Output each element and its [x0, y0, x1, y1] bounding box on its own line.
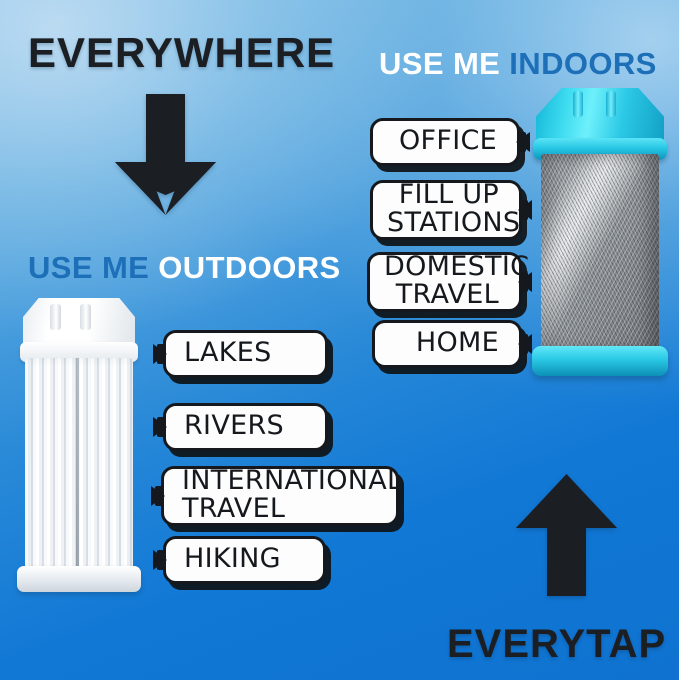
carbon-filter-cartridge [528, 88, 673, 378]
tag-notch-left-icon [153, 550, 167, 570]
filter-carbon-body [541, 154, 659, 354]
heading-indoors-emphasis: INDOORS [509, 46, 656, 81]
tag-label: OFFICE [387, 127, 497, 155]
filter-pleated-body [25, 358, 133, 574]
tag-label: RIVERS [184, 412, 311, 440]
white-filter-cartridge [14, 298, 144, 596]
heading-everywhere: EVERYWHERE [28, 32, 335, 74]
filter-cap-ridge [573, 91, 583, 117]
tag-home[interactable]: HOME [372, 320, 522, 368]
heading-use-me-indoors: USE ME INDOORS [379, 48, 657, 79]
tag-label: DOMESTIC TRAVEL [384, 253, 499, 309]
tag-hiking[interactable]: HIKING [163, 536, 326, 584]
tag-lakes[interactable]: LAKES [163, 330, 328, 378]
tag-notch-left-icon [153, 417, 167, 437]
filter-cap-nub [50, 304, 61, 330]
filter-base-ring [532, 346, 668, 376]
tag-label: LAKES [184, 339, 311, 367]
tag-international-travel[interactable]: INTERNATIONAL TRAVEL [161, 466, 399, 526]
filter-cap-ridge [606, 91, 616, 117]
heading-outdoors-prefix: USE ME [28, 250, 149, 285]
poster-canvas: EVERYWHERE USE ME INDOORS USE ME OUTDOOR… [0, 0, 679, 680]
heading-everytap: EVERYTAP [447, 624, 666, 664]
filter-base-ring [17, 566, 141, 592]
tag-rivers[interactable]: RIVERS [163, 403, 328, 451]
arrow-down-icon [113, 92, 218, 217]
tag-office[interactable]: OFFICE [370, 118, 520, 166]
filter-cap-nub [80, 304, 91, 330]
tag-fill-up-stations[interactable]: FILL UP STATIONS [370, 180, 522, 240]
tag-label: HIKING [184, 545, 309, 573]
tag-label: FILL UP STATIONS [387, 181, 499, 237]
heading-outdoors-emphasis: OUTDOORS [158, 250, 340, 285]
heading-indoors-prefix: USE ME [379, 46, 500, 81]
filter-seam [76, 358, 79, 574]
tag-label: HOME [389, 329, 499, 357]
tag-domestic-travel[interactable]: DOMESTIC TRAVEL [367, 252, 522, 312]
heading-use-me-outdoors: USE ME OUTDOORS [28, 252, 341, 283]
tag-notch-left-icon [151, 486, 165, 506]
arrow-up-icon [513, 472, 620, 598]
tag-label: INTERNATIONAL TRAVEL [182, 467, 382, 523]
tag-notch-left-icon [153, 344, 167, 364]
